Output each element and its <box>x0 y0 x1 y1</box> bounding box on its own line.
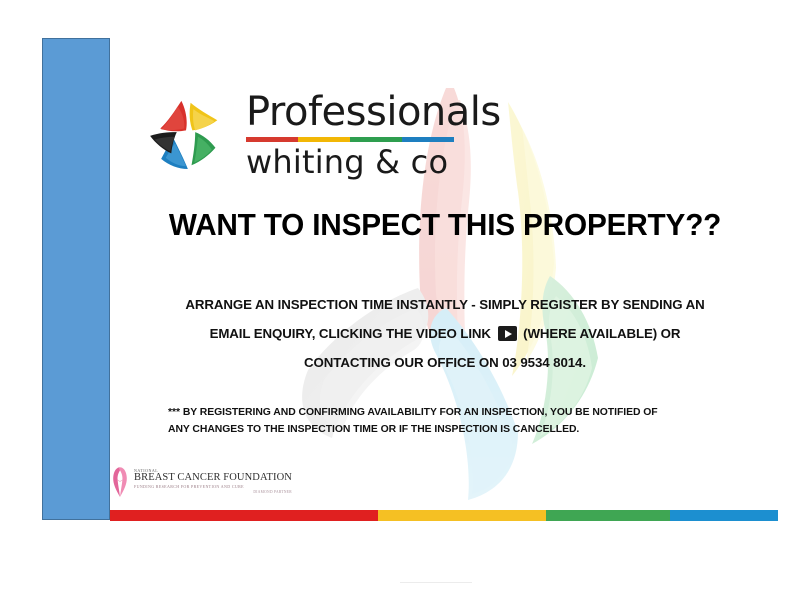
stripe-red <box>110 510 378 521</box>
body-line-2-after: (WHERE AVAILABLE) OR <box>520 326 681 341</box>
disclaimer: *** BY REGISTERING AND CONFIRMING AVAILA… <box>168 404 748 438</box>
professionals-star-icon <box>140 88 232 180</box>
body-line-2-before: EMAIL ENQUIRY, CLICKING THE VIDEO LINK <box>210 326 495 341</box>
bottom-colour-stripes <box>110 510 778 521</box>
flyer-content: Professionals whiting & co WANT TO INSPE… <box>110 38 780 520</box>
brand-name-primary: Professionals <box>246 90 501 134</box>
pink-ribbon-icon <box>110 466 130 498</box>
brand-wordmark: Professionals whiting & co <box>246 88 501 180</box>
nbcf-wordmark: NATIONAL BREAST CANCER FOUNDATION FUNDIN… <box>134 469 292 494</box>
body-line-2: EMAIL ENQUIRY, CLICKING THE VIDEO LINK (… <box>128 319 762 348</box>
brand-colour-rule <box>246 137 454 142</box>
brand-lockup: Professionals whiting & co <box>140 80 500 188</box>
body-copy: ARRANGE AN INSPECTION TIME INSTANTLY - S… <box>128 290 762 377</box>
page-title: WANT TO INSPECT THIS PROPERTY?? <box>123 206 766 244</box>
left-blue-sidebar <box>42 38 110 520</box>
stripe-green <box>546 510 670 521</box>
disclaimer-line-1: *** BY REGISTERING AND CONFIRMING AVAILA… <box>168 404 748 421</box>
stripe-yellow <box>378 510 546 521</box>
body-line-1: ARRANGE AN INSPECTION TIME INSTANTLY - S… <box>128 290 762 319</box>
page-edge-line <box>400 582 472 583</box>
brand-name-secondary: whiting & co <box>246 144 501 180</box>
body-line-3: CONTACTING OUR OFFICE ON 03 9534 8014. <box>128 348 762 377</box>
video-play-icon[interactable] <box>498 326 517 341</box>
nbcf-partner-logo: NATIONAL BREAST CANCER FOUNDATION FUNDIN… <box>110 464 260 500</box>
stripe-blue <box>670 510 778 521</box>
disclaimer-line-2: ANY CHANGES TO THE INSPECTION TIME OR IF… <box>168 421 748 438</box>
nbcf-name: BREAST CANCER FOUNDATION <box>134 473 292 484</box>
flyer-canvas: Professionals whiting & co WANT TO INSPE… <box>0 0 800 600</box>
nbcf-partner-level: DIAMOND PARTNER <box>134 491 292 495</box>
nbcf-tagline: FUNDING RESEARCH FOR PREVENTION AND CURE <box>134 485 292 489</box>
